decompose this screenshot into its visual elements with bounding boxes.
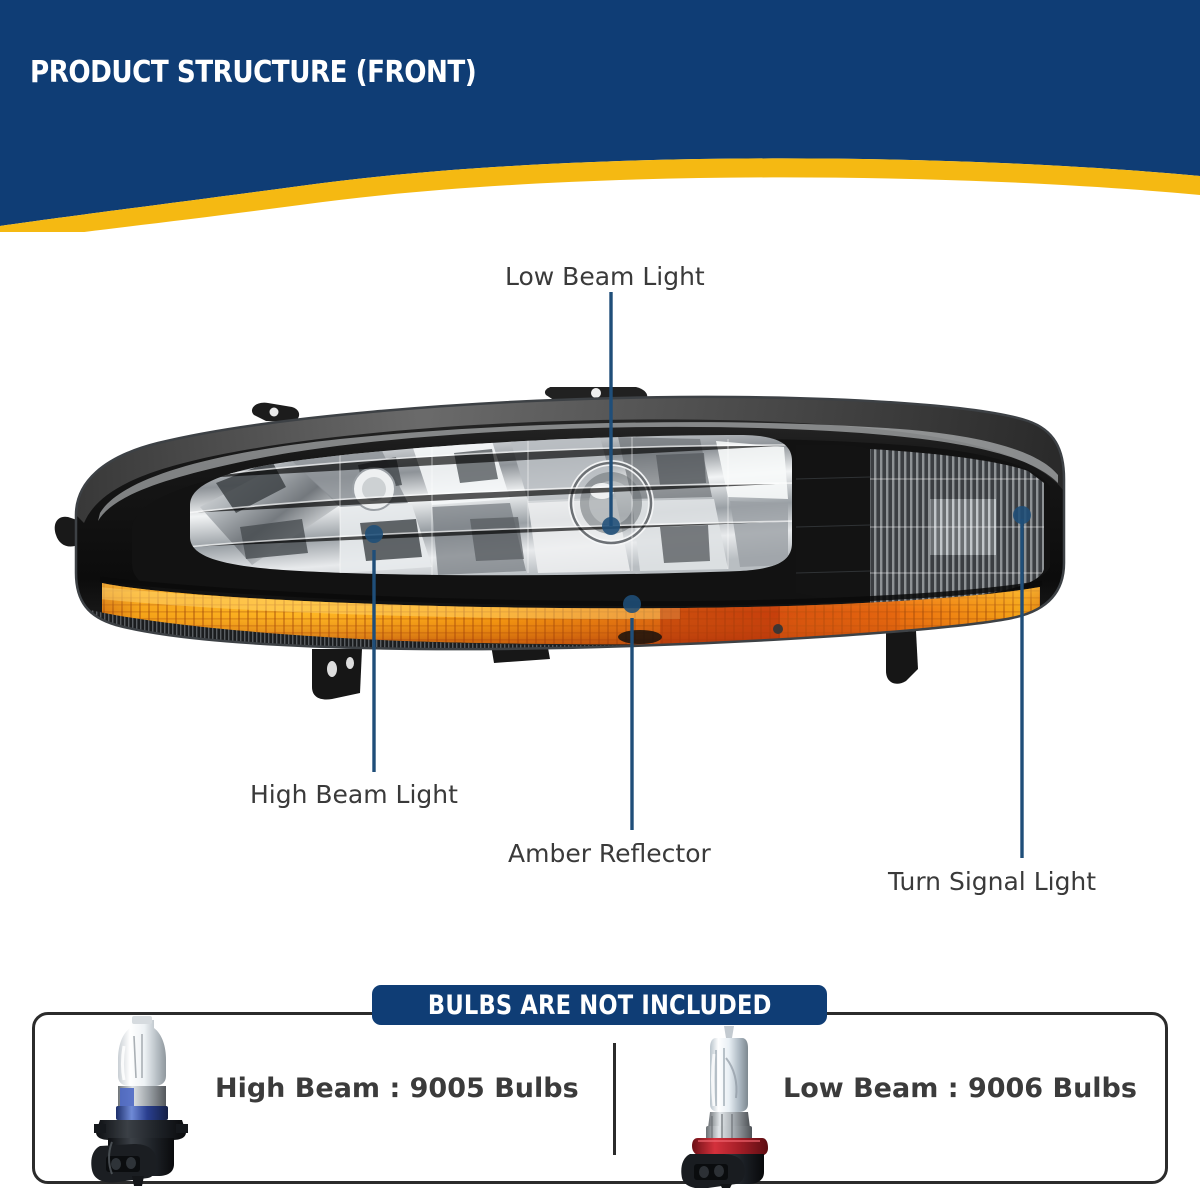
headlight-assembly-image [40, 387, 1070, 707]
high-beam-bulb-image [78, 1012, 198, 1192]
page-title: PRODUCT STRUCTURE (FRONT) [30, 38, 1146, 108]
bulbs-not-included-text: BULBS ARE NOT INCLUDED [428, 990, 772, 1021]
product-diagram: Low Beam Light High Beam Light Amber Ref… [0, 232, 1200, 972]
header-background [0, 0, 1200, 232]
callout-label-turn-signal: Turn Signal Light [888, 867, 1096, 896]
bulbs-panel-divider [613, 1043, 616, 1155]
callout-label-high-beam: High Beam Light [250, 780, 458, 809]
callout-label-amber-reflector: Amber Reflector [508, 839, 711, 868]
low-beam-bulb-image [672, 1024, 788, 1192]
high-beam-bulb-caption: High Beam : 9005 Bulbs [215, 1073, 579, 1104]
page-header: PRODUCT STRUCTURE (FRONT) [0, 0, 1200, 232]
bulbs-not-included-badge: BULBS ARE NOT INCLUDED [372, 985, 827, 1025]
callout-label-low-beam: Low Beam Light [505, 262, 705, 291]
low-beam-bulb-caption: Low Beam : 9006 Bulbs [783, 1073, 1137, 1104]
